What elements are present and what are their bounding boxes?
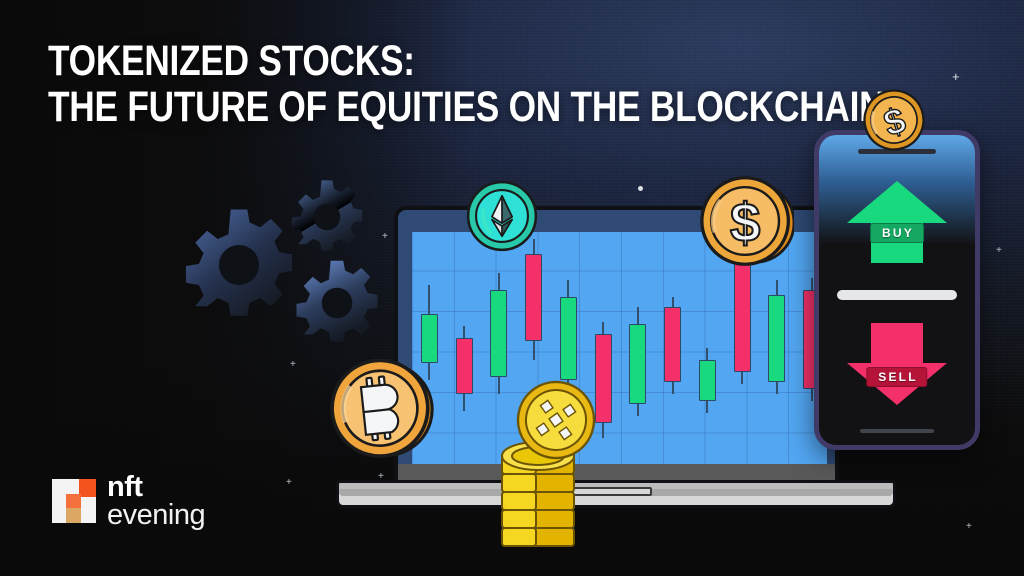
- dollar-coin: $: [700, 174, 794, 268]
- plus-decoration: +: [290, 360, 296, 370]
- title-line-1: Tokenized Stocks:: [48, 38, 671, 84]
- phone-illustration: BUY SELL: [814, 130, 980, 450]
- plus-decoration: +: [286, 478, 292, 488]
- candlestick-body: [490, 290, 507, 377]
- phone-home-indicator: [860, 429, 934, 433]
- gear-icon: [180, 206, 298, 324]
- candlestick-down: [734, 232, 751, 474]
- candlestick-up: [629, 232, 646, 474]
- candlestick-down: [456, 232, 473, 474]
- logo-block-top-right: [79, 479, 96, 497]
- logo-text-nft: nft: [107, 474, 205, 501]
- logo-text-evening: evening: [107, 502, 205, 529]
- candlestick-body: [768, 295, 785, 382]
- candlestick-up: [768, 232, 785, 474]
- ethereum-coin: [466, 180, 538, 252]
- page-title: Tokenized Stocks: The Future of Equities…: [48, 38, 671, 130]
- laptop-screen: [410, 232, 827, 474]
- binance-coin-stack: [486, 378, 598, 558]
- buy-control[interactable]: BUY: [819, 179, 975, 265]
- candlestick-up: [699, 232, 716, 474]
- candlestick-body: [456, 338, 473, 394]
- dot-decoration: [638, 186, 643, 191]
- sell-control[interactable]: SELL: [819, 321, 975, 407]
- brand-logo[interactable]: nft evening: [52, 474, 205, 528]
- buy-arrow-up-icon: BUY: [845, 179, 949, 265]
- buy-label: BUY: [870, 223, 924, 243]
- plus-decoration: +: [966, 522, 972, 532]
- logo-block-bottom-left: [66, 508, 81, 523]
- candlestick-down: [664, 232, 681, 474]
- logo-block-middle: [66, 494, 81, 509]
- candlestick-body: [560, 297, 577, 379]
- candlestick-chart: [412, 232, 827, 474]
- plus-decoration: +: [952, 70, 960, 83]
- candlestick-body: [664, 307, 681, 382]
- logo-wordmark: nft evening: [107, 474, 205, 528]
- nftevening-logo-mark: [52, 479, 96, 523]
- candlestick-body: [525, 254, 542, 341]
- title-line-2: The Future of Equities on the Blockchain: [48, 84, 671, 130]
- phone-divider-bar: [837, 290, 957, 300]
- svg-text:$: $: [730, 193, 760, 254]
- sell-label: SELL: [866, 367, 927, 387]
- candlestick-body: [734, 261, 751, 372]
- candlestick-body: [699, 360, 716, 401]
- plus-decoration: +: [996, 246, 1002, 256]
- candlestick-body: [629, 324, 646, 404]
- bitcoin-coin: [325, 351, 439, 465]
- sell-arrow-down-icon: SELL: [845, 321, 949, 407]
- hero-banner: + + + + + + +: [0, 0, 1024, 576]
